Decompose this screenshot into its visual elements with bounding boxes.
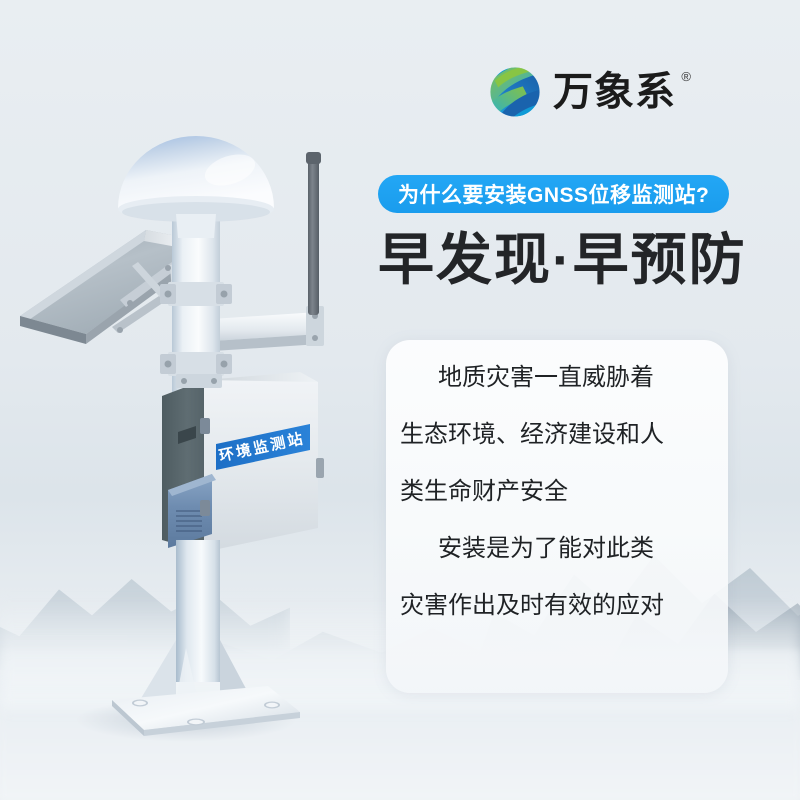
- antenna-rod: [308, 160, 319, 315]
- registered-mark-icon: ®: [681, 70, 692, 83]
- cabinet-tab-1: [200, 418, 210, 434]
- equipment-cabinet: 环境监测站: [162, 372, 324, 552]
- base-gusset-left: [140, 640, 176, 700]
- description-line-1: 地质灾害一直威胁着: [400, 366, 714, 390]
- description-panel: 地质灾害一直威胁着 生态环境、经济建设和人 类生命财产安全 安装是为了能对此类 …: [386, 340, 728, 693]
- brand-name: 万象系 ®: [553, 72, 676, 112]
- page-headline: 早发现·早预防: [378, 228, 747, 292]
- pole-lower-shaft: [176, 540, 220, 682]
- antenna-rod-cap: [306, 152, 321, 164]
- brand-name-text: 万象系: [553, 70, 676, 114]
- description-line-4: 安装是为了能对此类: [400, 537, 714, 561]
- question-badge: 为什么要安装GNSS位移监测站?: [378, 175, 729, 213]
- gnss-antenna-dome: [118, 136, 274, 238]
- description-line-3: 类生命财产安全: [400, 480, 714, 504]
- monitoring-station-illustration: 环境监测站: [0, 0, 420, 800]
- cabinet-latch: [316, 458, 324, 478]
- pole-clamp-2: [168, 352, 224, 376]
- panel-bolt-b: [165, 265, 171, 271]
- brand-logo: 万象系 ®: [487, 64, 676, 120]
- panel-bolt-c: [117, 327, 123, 333]
- globe-swoosh-logo-icon: [487, 64, 543, 120]
- mounting-pole-lower: [176, 540, 220, 682]
- pole-clamp-1: [168, 282, 224, 306]
- dome-neck: [176, 214, 216, 238]
- panel-bolt-a: [127, 300, 133, 306]
- cabinet-tab-2: [200, 500, 210, 516]
- poster-root: 环境监测站: [0, 0, 800, 800]
- description-line-5: 灾害作出及时有效的应对: [400, 594, 714, 618]
- description-line-2: 生态环境、经济建设和人: [400, 423, 714, 447]
